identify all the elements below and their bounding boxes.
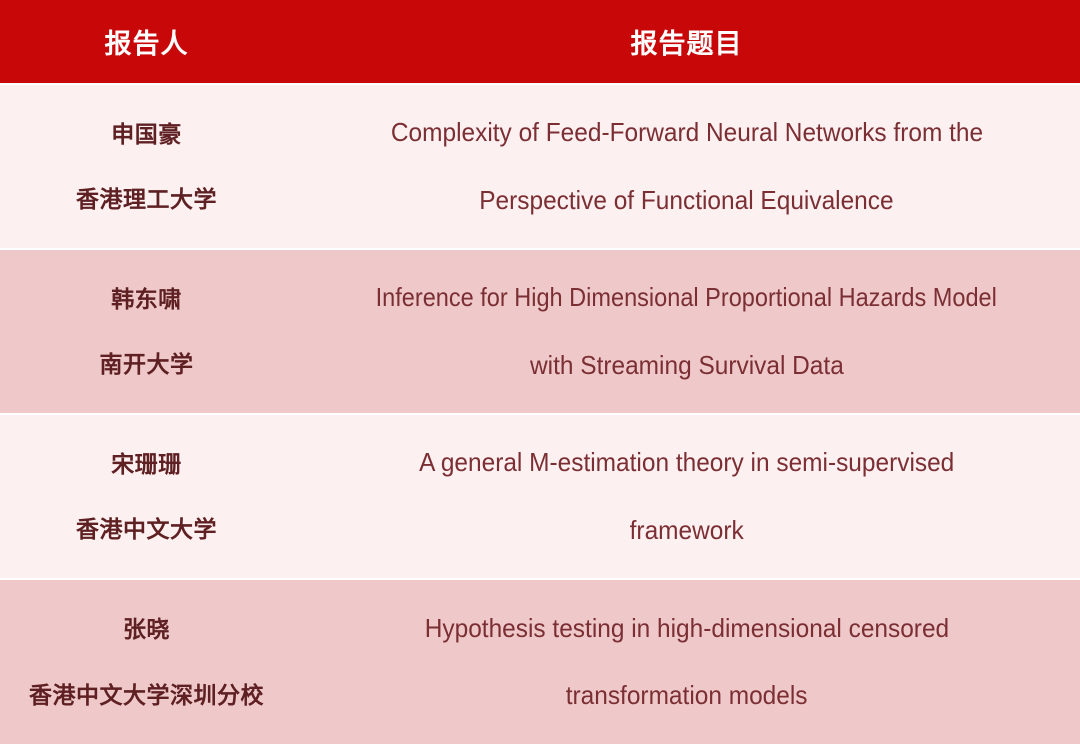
table-row: 张晓 香港中文大学深圳分校 Hypothesis testing in high… [0, 579, 1080, 744]
table-row: 申国豪 香港理工大学 Complexity of Feed-Forward Ne… [0, 84, 1080, 249]
table-body: 申国豪 香港理工大学 Complexity of Feed-Forward Ne… [0, 84, 1080, 744]
presenter-cell: 申国豪 香港理工大学 [0, 84, 293, 249]
talk-title-line-2: Perspective of Functional Equivalence [479, 187, 893, 214]
presenter-name: 申国豪 [111, 122, 182, 146]
presenter-cell: 张晓 香港中文大学深圳分校 [0, 579, 293, 744]
talk-title-line-2: framework [629, 517, 743, 544]
presenter-name: 张晓 [123, 617, 170, 641]
table-row: 宋珊珊 香港中文大学 A general M-estimation theory… [0, 414, 1080, 579]
talk-title-line-1: Hypothesis testing in high-dimensional c… [424, 615, 948, 642]
column-header-presenter: 报告人 [0, 0, 293, 84]
presenter-name: 宋珊珊 [111, 452, 182, 476]
conference-schedule-table: 报告人 报告题目 申国豪 香港理工大学 Complexity of Feed-F… [0, 0, 1080, 744]
presenter-affiliation: 香港理工大学 [76, 187, 217, 211]
talk-title-line-1: Complexity of Feed-Forward Neural Networ… [390, 119, 982, 146]
talk-title-cell: Complexity of Feed-Forward Neural Networ… [293, 84, 1080, 249]
talk-title-cell: Hypothesis testing in high-dimensional c… [293, 579, 1080, 744]
presenter-affiliation: 香港中文大学 [76, 517, 217, 541]
talk-title-cell: Inference for High Dimensional Proportio… [293, 249, 1080, 414]
talk-title-cell: A general M-estimation theory in semi-su… [293, 414, 1080, 579]
presenter-affiliation: 南开大学 [100, 352, 194, 376]
table-header-row: 报告人 报告题目 [0, 0, 1080, 84]
talk-title-line-2: with Streaming Survival Data [530, 352, 844, 379]
talk-title-line-1: A general M-estimation theory in semi-su… [419, 449, 954, 476]
presenter-name: 韩东啸 [111, 287, 182, 311]
table-row: 韩东啸 南开大学 Inference for High Dimensional … [0, 249, 1080, 414]
talk-title-line-2: transformation models [566, 682, 808, 709]
presenter-cell: 韩东啸 南开大学 [0, 249, 293, 414]
presenter-affiliation: 香港中文大学深圳分校 [29, 683, 264, 707]
talk-title-line-1: Inference for High Dimensional Proportio… [376, 284, 997, 311]
presenter-cell: 宋珊珊 香港中文大学 [0, 414, 293, 579]
column-header-title: 报告题目 [293, 0, 1080, 84]
